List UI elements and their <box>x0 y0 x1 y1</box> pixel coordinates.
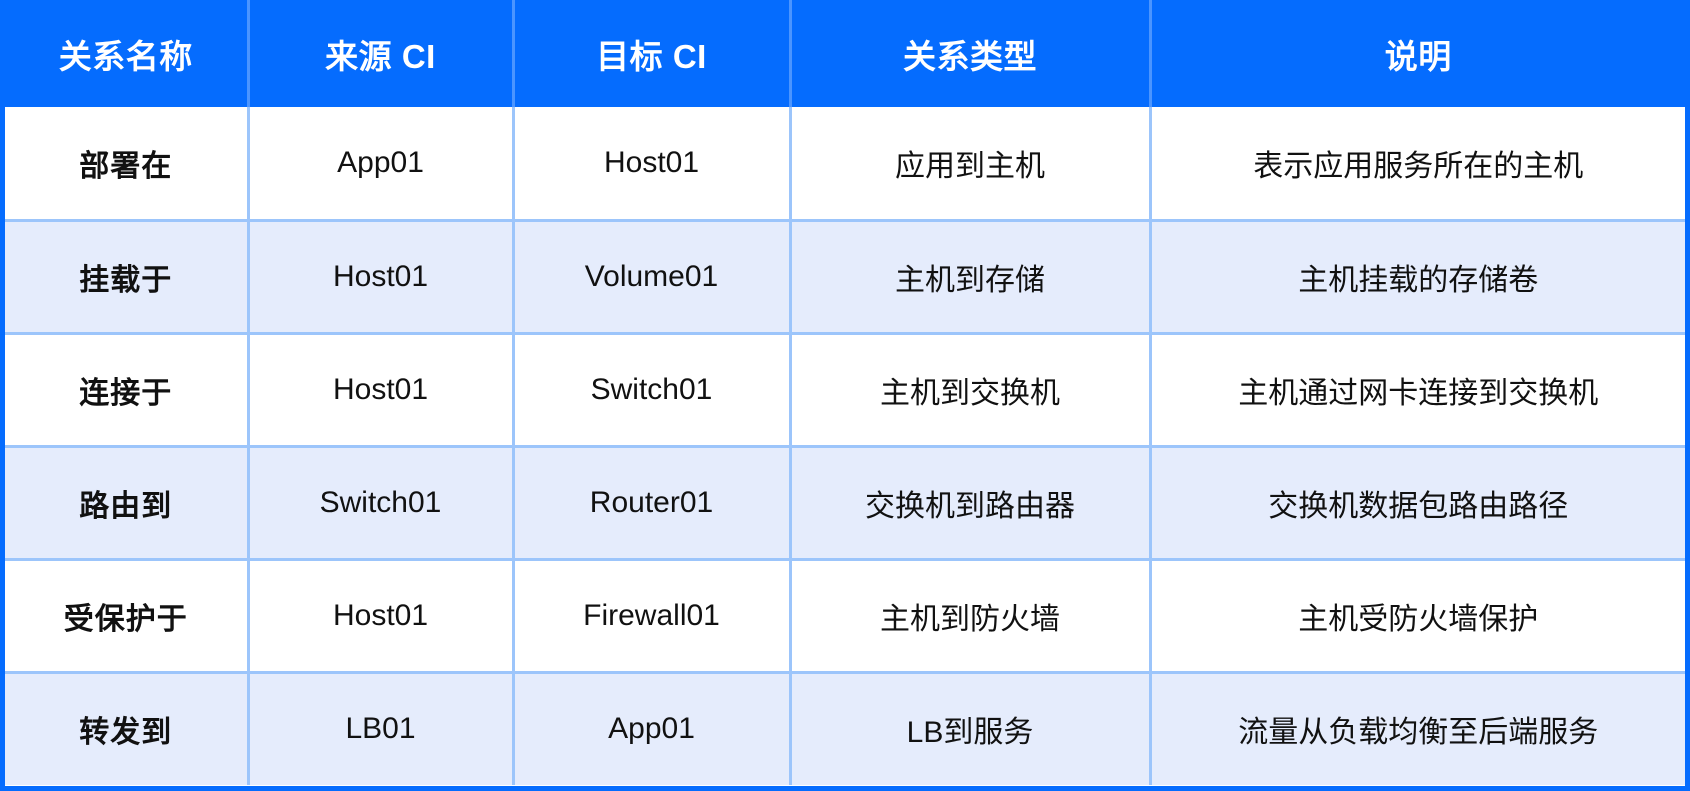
column-header-relation-type[interactable]: 关系类型 <box>790 0 1150 107</box>
cell-relation-name: 挂载于 <box>5 220 248 333</box>
table-header: 关系名称 来源 CI 目标 CI 关系类型 说明 <box>5 0 1685 107</box>
cell-relation-type: 主机到交换机 <box>790 333 1150 446</box>
table-row[interactable]: 连接于 Host01 Switch01 主机到交换机 主机通过网卡连接到交换机 <box>5 333 1685 446</box>
table-row[interactable]: 挂载于 Host01 Volume01 主机到存储 主机挂载的存储卷 <box>5 220 1685 333</box>
cell-relation-type: LB到服务 <box>790 672 1150 785</box>
ci-relationship-table-container: 关系名称 来源 CI 目标 CI 关系类型 说明 部署在 App01 Host0… <box>0 0 1690 791</box>
cell-relation-type: 交换机到路由器 <box>790 446 1150 559</box>
cell-relation-name: 连接于 <box>5 333 248 446</box>
column-header-description[interactable]: 说明 <box>1150 0 1685 107</box>
cell-source-ci: Switch01 <box>248 446 513 559</box>
cell-target-ci: App01 <box>513 672 790 785</box>
cell-source-ci: Host01 <box>248 559 513 672</box>
cell-relation-type: 应用到主机 <box>790 107 1150 220</box>
column-header-source-ci[interactable]: 来源 CI <box>248 0 513 107</box>
cell-description: 主机挂载的存储卷 <box>1150 220 1685 333</box>
cell-target-ci: Volume01 <box>513 220 790 333</box>
cell-description: 主机受防火墙保护 <box>1150 559 1685 672</box>
column-header-relation-name[interactable]: 关系名称 <box>5 0 248 107</box>
ci-relationship-table: 关系名称 来源 CI 目标 CI 关系类型 说明 部署在 App01 Host0… <box>5 0 1685 785</box>
cell-relation-name: 部署在 <box>5 107 248 220</box>
cell-relation-name: 受保护于 <box>5 559 248 672</box>
table-row[interactable]: 受保护于 Host01 Firewall01 主机到防火墙 主机受防火墙保护 <box>5 559 1685 672</box>
cell-target-ci: Switch01 <box>513 333 790 446</box>
table-row[interactable]: 路由到 Switch01 Router01 交换机到路由器 交换机数据包路由路径 <box>5 446 1685 559</box>
cell-relation-type: 主机到防火墙 <box>790 559 1150 672</box>
table-body: 部署在 App01 Host01 应用到主机 表示应用服务所在的主机 挂载于 H… <box>5 107 1685 785</box>
cell-target-ci: Firewall01 <box>513 559 790 672</box>
header-row: 关系名称 来源 CI 目标 CI 关系类型 说明 <box>5 0 1685 107</box>
cell-target-ci: Host01 <box>513 107 790 220</box>
cell-source-ci: LB01 <box>248 672 513 785</box>
cell-source-ci: Host01 <box>248 333 513 446</box>
cell-target-ci: Router01 <box>513 446 790 559</box>
cell-relation-name: 转发到 <box>5 672 248 785</box>
cell-relation-type: 主机到存储 <box>790 220 1150 333</box>
cell-source-ci: App01 <box>248 107 513 220</box>
table-row[interactable]: 转发到 LB01 App01 LB到服务 流量从负载均衡至后端服务 <box>5 672 1685 785</box>
cell-description: 主机通过网卡连接到交换机 <box>1150 333 1685 446</box>
table-row[interactable]: 部署在 App01 Host01 应用到主机 表示应用服务所在的主机 <box>5 107 1685 220</box>
cell-description: 表示应用服务所在的主机 <box>1150 107 1685 220</box>
cell-relation-name: 路由到 <box>5 446 248 559</box>
cell-description: 流量从负载均衡至后端服务 <box>1150 672 1685 785</box>
column-header-target-ci[interactable]: 目标 CI <box>513 0 790 107</box>
cell-source-ci: Host01 <box>248 220 513 333</box>
cell-description: 交换机数据包路由路径 <box>1150 446 1685 559</box>
